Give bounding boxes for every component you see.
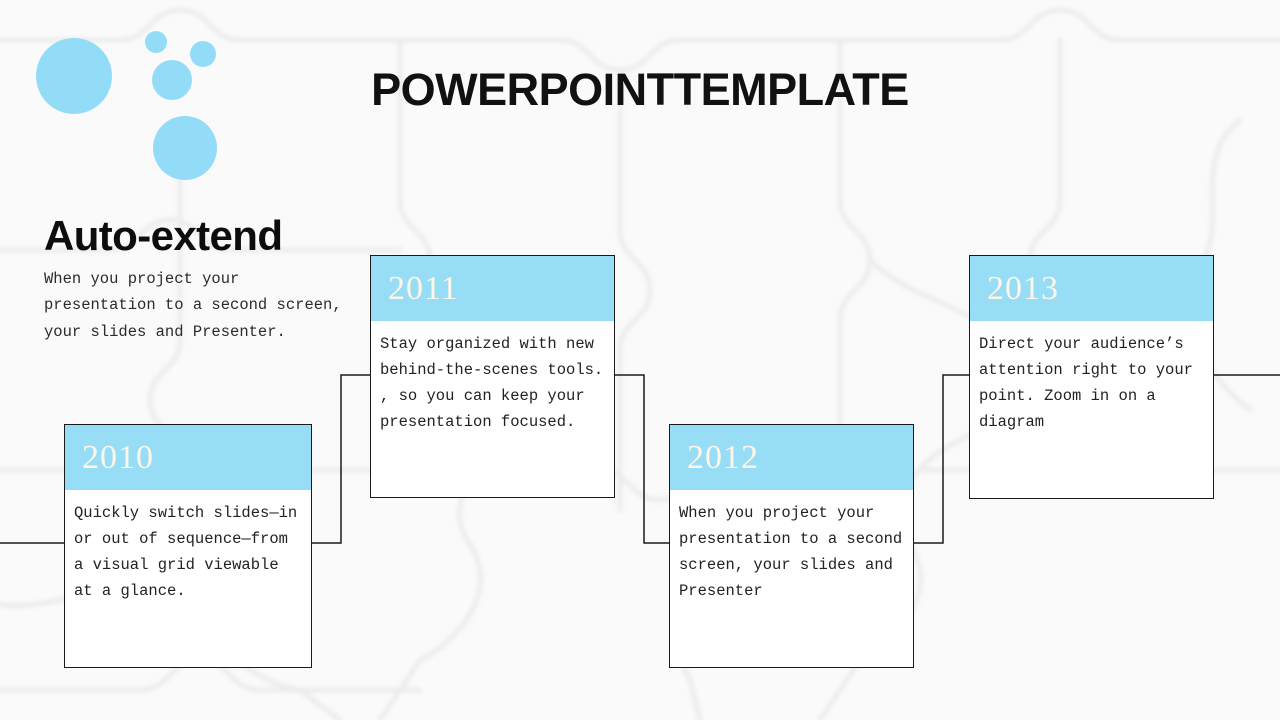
bubble-medium-lower	[153, 116, 217, 180]
timeline-card-2013[interactable]: 2013 Direct your audience’s attention ri…	[969, 255, 1214, 499]
connector-2011-2012	[615, 375, 669, 543]
slide-canvas: POWERPOINTTEMPLATE Auto-extend When you …	[0, 0, 1280, 720]
card-year-label: 2011	[388, 272, 459, 306]
card-body-2011: Stay organized with new behind-the-scene…	[371, 321, 614, 443]
card-header-2010: 2010	[65, 425, 311, 490]
connector-2012-2013	[914, 375, 969, 543]
page-title: POWERPOINTTEMPLATE	[0, 64, 1280, 116]
card-header-2012: 2012	[670, 425, 913, 490]
bubble-small-top	[145, 31, 167, 53]
intro-heading: Auto-extend	[44, 214, 344, 259]
timeline-card-2010[interactable]: 2010 Quickly switch slides—in or out of …	[64, 424, 312, 668]
card-header-2013: 2013	[970, 256, 1213, 321]
timeline-card-2011[interactable]: 2011 Stay organized with new behind-the-…	[370, 255, 615, 498]
card-body-2010: Quickly switch slides—in or out of seque…	[65, 490, 311, 612]
card-year-label: 2012	[687, 441, 759, 475]
connector-2010-2011	[312, 375, 370, 543]
card-header-2011: 2011	[371, 256, 614, 321]
card-year-label: 2010	[82, 441, 154, 475]
card-body-2012: When you project your presentation to a …	[670, 490, 913, 612]
intro-block: Auto-extend When you project your presen…	[44, 214, 344, 345]
card-body-2013: Direct your audience’s attention right t…	[970, 321, 1213, 443]
intro-body-text: When you project your presentation to a …	[44, 266, 344, 346]
card-year-label: 2013	[987, 272, 1059, 306]
timeline-card-2012[interactable]: 2012 When you project your presentation …	[669, 424, 914, 668]
